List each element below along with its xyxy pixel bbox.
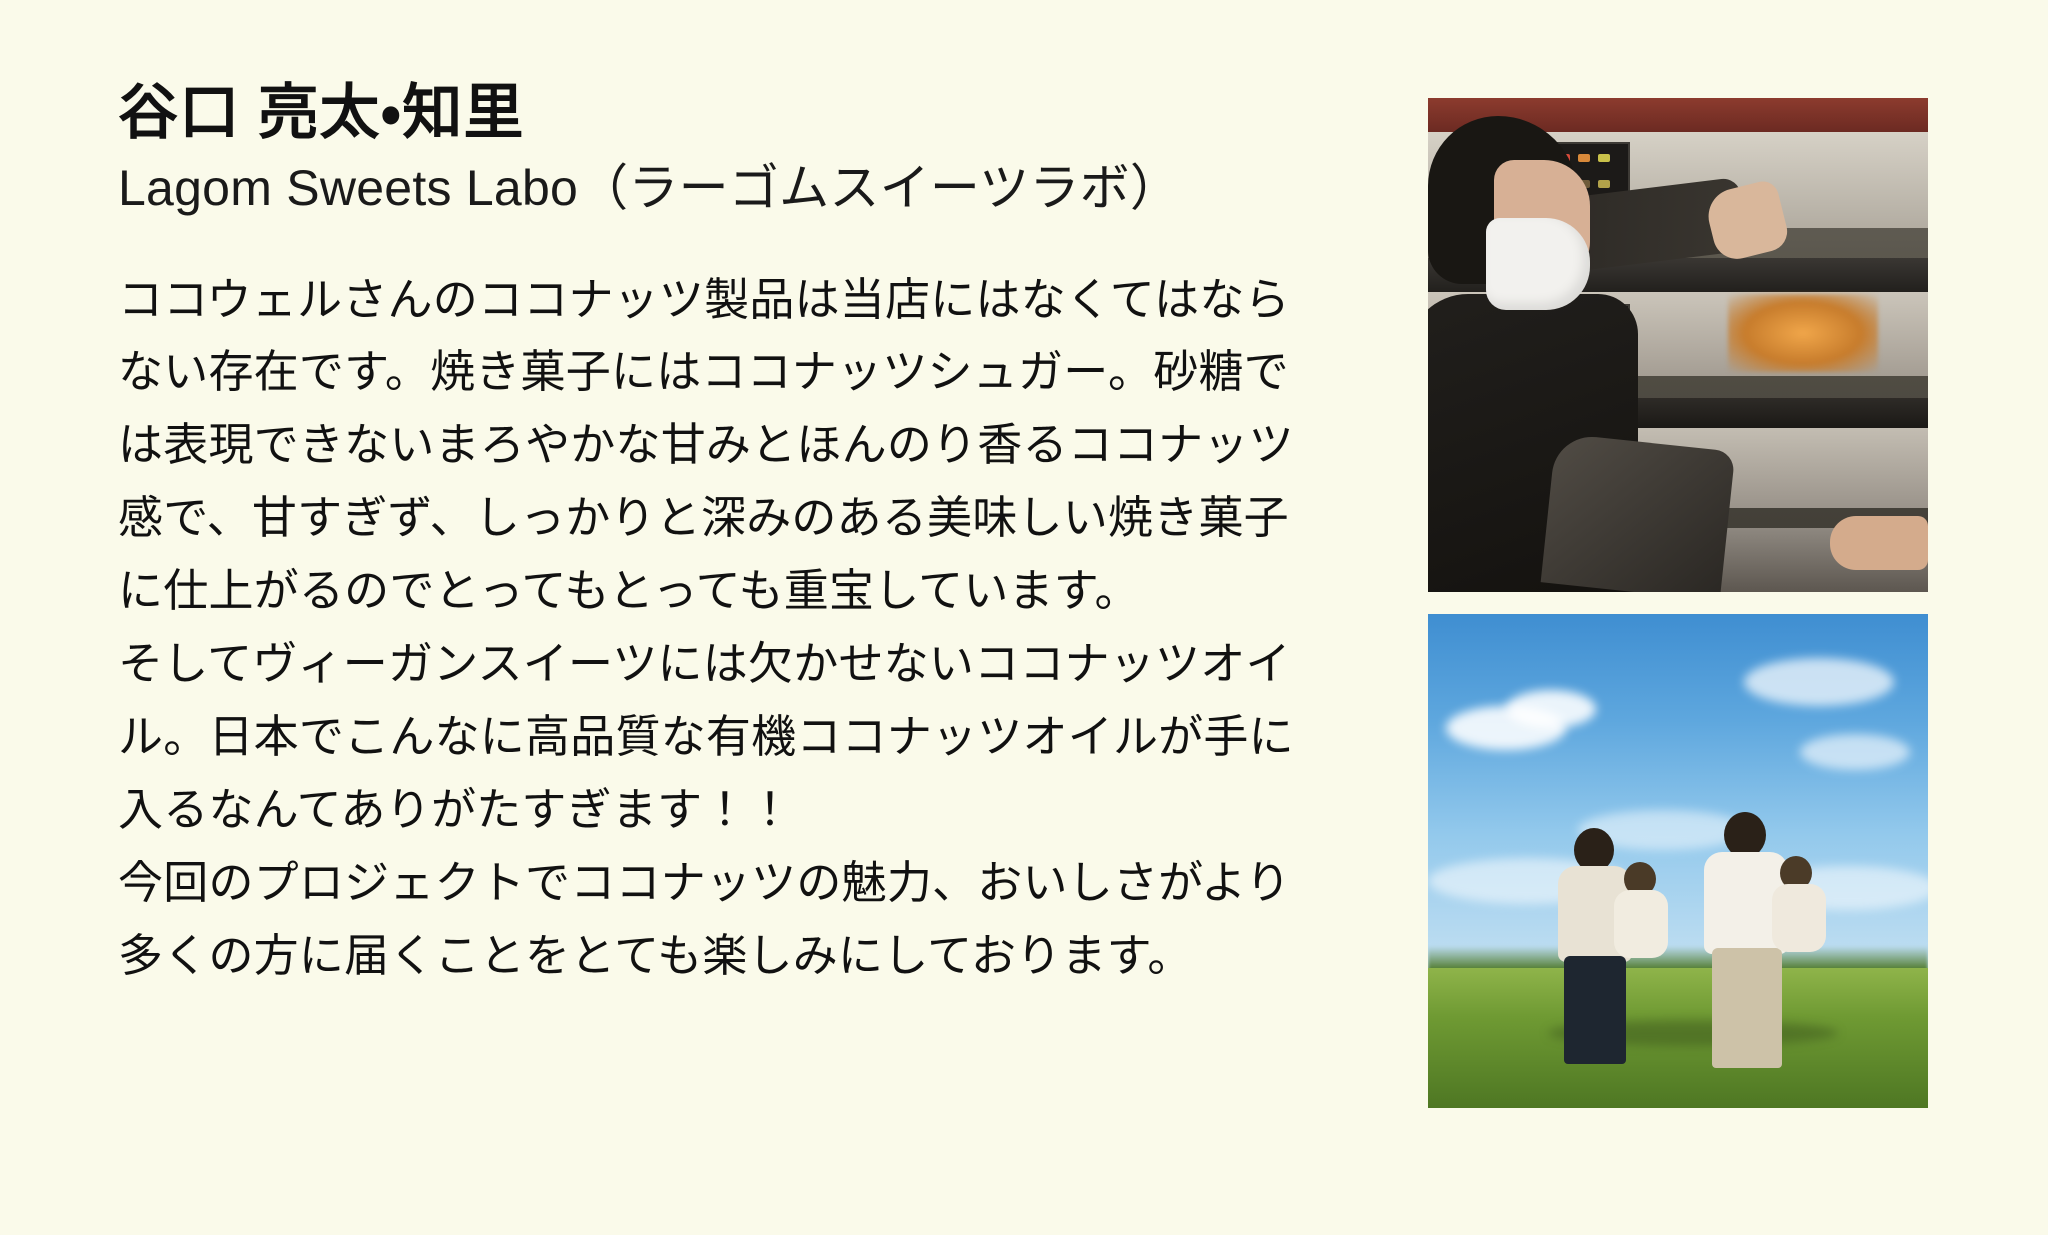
oven-interior-glow	[1728, 294, 1878, 372]
cloud	[1744, 658, 1894, 706]
shop-owner-name: 谷口 亮太・知里	[118, 78, 1333, 148]
adult-left-legs	[1564, 956, 1626, 1064]
baker-face-mask	[1486, 218, 1590, 310]
testimonial-text-column: 谷口 亮太・知里 Lagom Sweets Labo（ラーゴムスイーツラボ） コ…	[118, 78, 1333, 993]
baker-second-hand	[1830, 516, 1928, 570]
testimonial-paragraph-3: 今回のプロジェクトでココナッツの魅力、おいしさがより多くの方に届くことをとても楽…	[118, 847, 1333, 993]
baker-sleeve	[1541, 433, 1736, 592]
shop-name: Lagom Sweets Labo（ラーゴムスイーツラボ）	[118, 158, 1333, 218]
adult-right-legs	[1712, 948, 1782, 1068]
oven-led	[1578, 154, 1590, 162]
child-left-body	[1614, 890, 1668, 958]
testimonial-page: 谷口 亮太・知里 Lagom Sweets Labo（ラーゴムスイーツラボ） コ…	[0, 0, 2048, 1235]
family-on-grass-photo	[1428, 614, 1928, 1108]
testimonial-body: ココウェルさんのココナッツ製品は当店にはなくてはならない存在です。焼き菓子にはコ…	[118, 264, 1333, 993]
cloud	[1506, 690, 1596, 728]
oven-led	[1598, 180, 1610, 188]
cloud	[1800, 734, 1910, 770]
testimonial-content: 谷口 亮太・知里 Lagom Sweets Labo（ラーゴムスイーツラボ） コ…	[118, 78, 1928, 1108]
oven-led	[1598, 154, 1610, 162]
testimonial-paragraph-1: ココウェルさんのココナッツ製品は当店にはなくてはならない存在です。焼き菓子にはコ…	[118, 264, 1333, 628]
testimonial-photo-column	[1428, 98, 1928, 1108]
testimonial-paragraph-2: そしてヴィーガンスイーツには欠かせないココナッツオイル。日本でこんなに高品質な有…	[118, 628, 1333, 847]
baker-at-oven-photo	[1428, 98, 1928, 592]
child-right-body	[1772, 884, 1826, 952]
